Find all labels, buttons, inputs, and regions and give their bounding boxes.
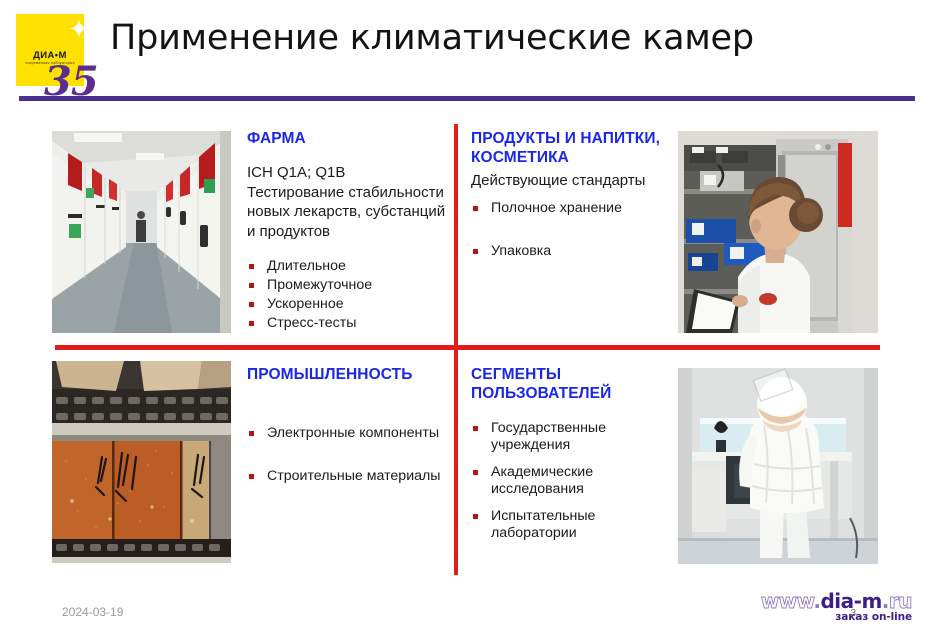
list-item-line: Государственные bbox=[491, 420, 606, 436]
pharma-bullet-list: Длительное Промежуточное Ускоренное Стре… bbox=[247, 258, 447, 334]
header-divider-rule bbox=[19, 96, 915, 101]
photo-cleanroom-operator bbox=[678, 368, 878, 564]
list-item-line: лаборатории bbox=[491, 525, 577, 541]
pharma-lede-line: ICH Q1A; Q1B bbox=[247, 163, 447, 183]
pharma-heading: ФАРМА bbox=[247, 130, 447, 149]
pharma-lede-line: Тестирование стабильности bbox=[247, 183, 447, 203]
industry-heading: ПРОМЫШЛЕННОСТЬ bbox=[247, 366, 457, 385]
brand-url-suffix: ru bbox=[889, 589, 912, 613]
brand-url[interactable]: www.dia-m.ru bbox=[742, 590, 912, 612]
sparkle-icon: ✦ bbox=[68, 20, 90, 42]
food-bullet-list: Полочное хранение Упаковка bbox=[471, 200, 681, 286]
list-item: Электронные компоненты bbox=[247, 425, 452, 442]
page-title: Применение климатические камер bbox=[110, 18, 910, 58]
list-item-line: Испытательные bbox=[491, 508, 595, 524]
segments-heading: СЕГМЕНТЫ ПОЛЬЗОВАТЕЛЕЙ bbox=[471, 366, 681, 403]
list-item: Упаковка bbox=[471, 243, 681, 260]
segments-heading-line: СЕГМЕНТЫ bbox=[471, 366, 681, 385]
slide-date: 2024-03-19 bbox=[62, 605, 123, 619]
brand-url-core: dia-m bbox=[820, 589, 881, 613]
food-lede: Действующие стандарты bbox=[471, 171, 681, 191]
list-item: Государственные учреждения bbox=[471, 420, 671, 454]
list-item: Полочное хранение bbox=[471, 200, 681, 217]
list-item: Академические исследования bbox=[471, 464, 671, 498]
list-item: Испытательные лаборатории bbox=[471, 508, 671, 542]
photo-pharma-corridor bbox=[52, 131, 231, 333]
food-heading-line: ПРОДУКТЫ И НАПИТКИ, bbox=[471, 130, 681, 149]
list-item-line: исследования bbox=[491, 481, 584, 497]
slide-canvas: ✦ ДИА•М современная лаборатория 35 Приме… bbox=[0, 0, 934, 644]
pharma-lede-line: и продуктов bbox=[247, 222, 447, 242]
list-item: Строительные материалы bbox=[247, 468, 452, 485]
pharma-lede-line: новых лекарств, субстанций bbox=[247, 202, 447, 222]
list-item: Длительное bbox=[247, 258, 447, 275]
list-item: Ускоренное bbox=[247, 296, 447, 313]
list-item: Стресс-тесты bbox=[247, 315, 447, 332]
photo-technician-chamber bbox=[678, 131, 878, 333]
list-item: Промежуточное bbox=[247, 277, 447, 294]
brand-url-dot: . bbox=[882, 589, 889, 613]
segments-bullet-list: Государственные учреждения Академические… bbox=[471, 420, 671, 552]
divider-vertical bbox=[454, 124, 458, 575]
food-heading-line: КОСМЕТИКА bbox=[471, 149, 681, 168]
segments-heading-line: ПОЛЬЗОВАТЕЛЕЙ bbox=[471, 385, 681, 404]
brand-url-prefix: www bbox=[761, 589, 814, 613]
food-heading: ПРОДУКТЫ И НАПИТКИ, КОСМЕТИКА bbox=[471, 130, 681, 167]
photo-building-materials bbox=[52, 361, 231, 563]
divider-horizontal bbox=[55, 345, 880, 350]
pharma-lede: ICH Q1A; Q1B Тестирование стабильности н… bbox=[247, 163, 447, 241]
brand-watermark[interactable]: www.dia-m.ru заказ on-line bbox=[742, 590, 912, 623]
list-item-line: Академические bbox=[491, 464, 593, 480]
industry-bullet-list: Электронные компоненты Строительные мате… bbox=[247, 425, 452, 511]
company-logo: ✦ ДИА•М современная лаборатория 35 bbox=[16, 14, 96, 102]
list-item-line: учреждения bbox=[491, 437, 570, 453]
